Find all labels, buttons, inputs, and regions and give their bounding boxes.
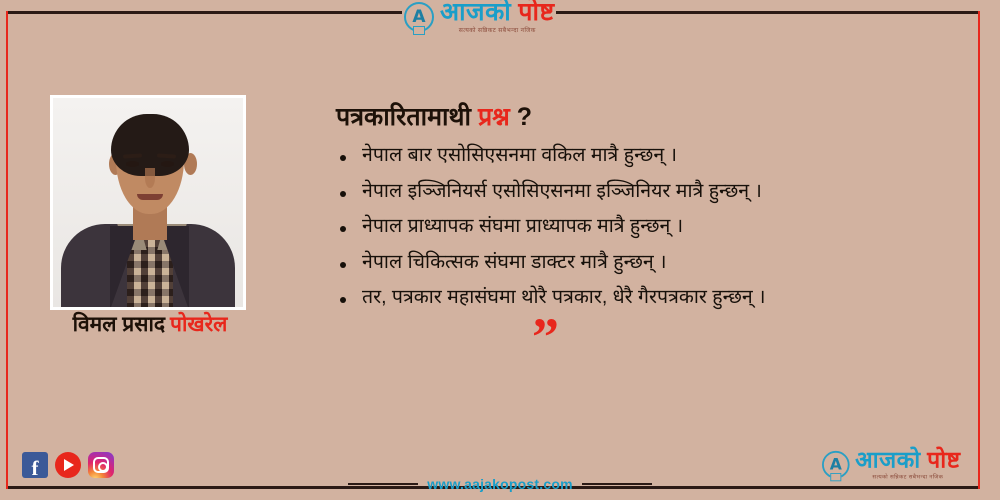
brand-emblem-icon: A — [822, 451, 850, 479]
instagram-icon[interactable] — [88, 452, 114, 478]
statement-list: नेपाल बार एसोसिएसनमा वकिल मात्रै हुन्छन्… — [336, 146, 966, 308]
portrait-hair — [111, 114, 189, 176]
brand-word-red: पोष्ट — [518, 0, 554, 26]
brand-wordmark: आजकोपोष्ट सत्यको सन्निकट सबैभन्दा नजिक — [855, 449, 960, 480]
page-title: पत्रकारितामाथी प्रश्न ? — [336, 102, 966, 133]
website-url[interactable]: www.aajakopost.com — [427, 476, 572, 492]
social-links: f — [22, 452, 114, 478]
list-item: नेपाल इञ्जिनियर्स एसोसिएसनमा इञ्जिनियर म… — [336, 182, 966, 202]
brand-logo-footer[interactable]: A आजकोपोष्ट सत्यको सन्निकट सबैभन्दा नजिक — [822, 450, 961, 479]
brand-wordmark: आजकोपोष्ट सत्यको सन्निकट सबैभन्दा नजिक — [440, 0, 555, 34]
youtube-icon[interactable] — [55, 452, 81, 478]
quote-mark-icon: ” — [532, 324, 966, 351]
headline-red-part: प्रश्न — [478, 103, 510, 131]
content-column: पत्रकारितामाथी प्रश्न ? नेपाल बार एसोसिए… — [336, 102, 966, 351]
portrait-eye-left — [126, 161, 139, 167]
caption-first-name: विमल प्रसाद — [73, 313, 165, 336]
brand-tagline: सत्यको सन्निकट सबैभन्दा नजिक — [440, 28, 555, 34]
list-item: नेपाल चिकित्सक संघमा डाक्टर मात्रै हुन्छ… — [336, 253, 966, 273]
portrait-nose — [145, 168, 155, 188]
portrait-caption: विमल प्रसादपोखरेल — [50, 313, 250, 336]
list-item: नेपाल बार एसोसिएसनमा वकिल मात्रै हुन्छन्… — [336, 146, 966, 166]
brand-word-red: पोष्ट — [927, 447, 960, 473]
footer-dash-right — [582, 483, 652, 485]
frame-line-right — [978, 11, 980, 489]
poster-canvas: A आजकोपोष्ट सत्यको सन्निकट सबैभन्दा नजिक — [0, 0, 1000, 500]
portrait-photo — [50, 95, 246, 310]
footer-dash-left — [348, 483, 418, 485]
brand-word-blue: आजको — [440, 0, 511, 26]
facebook-icon[interactable]: f — [22, 452, 48, 478]
portrait-eye-right — [161, 161, 174, 167]
brand-emblem-icon: A — [404, 2, 434, 32]
brand-tagline: सत्यको सन्निकट सबैभन्दा नजिक — [855, 475, 960, 481]
list-item: तर, पत्रकार महासंघमा थोरै पत्रकार, धेरै … — [336, 288, 966, 308]
header-rule-left — [6, 11, 402, 14]
brand-word-blue: आजको — [855, 447, 921, 473]
header-rule-right — [556, 11, 980, 14]
headline-black-part: पत्रकारितामाथी — [336, 103, 471, 131]
portrait-mouth — [137, 194, 163, 200]
brand-logo-header[interactable]: A आजकोपोष्ट सत्यको सन्निकट सबैभन्दा नजिक — [404, 0, 555, 34]
headline-question-mark: ? — [517, 103, 532, 131]
list-item: नेपाल प्राध्यापक संघमा प्राध्यापक मात्रै… — [336, 217, 966, 237]
frame-line-left — [6, 11, 8, 489]
caption-last-name: पोखरेल — [170, 313, 227, 336]
